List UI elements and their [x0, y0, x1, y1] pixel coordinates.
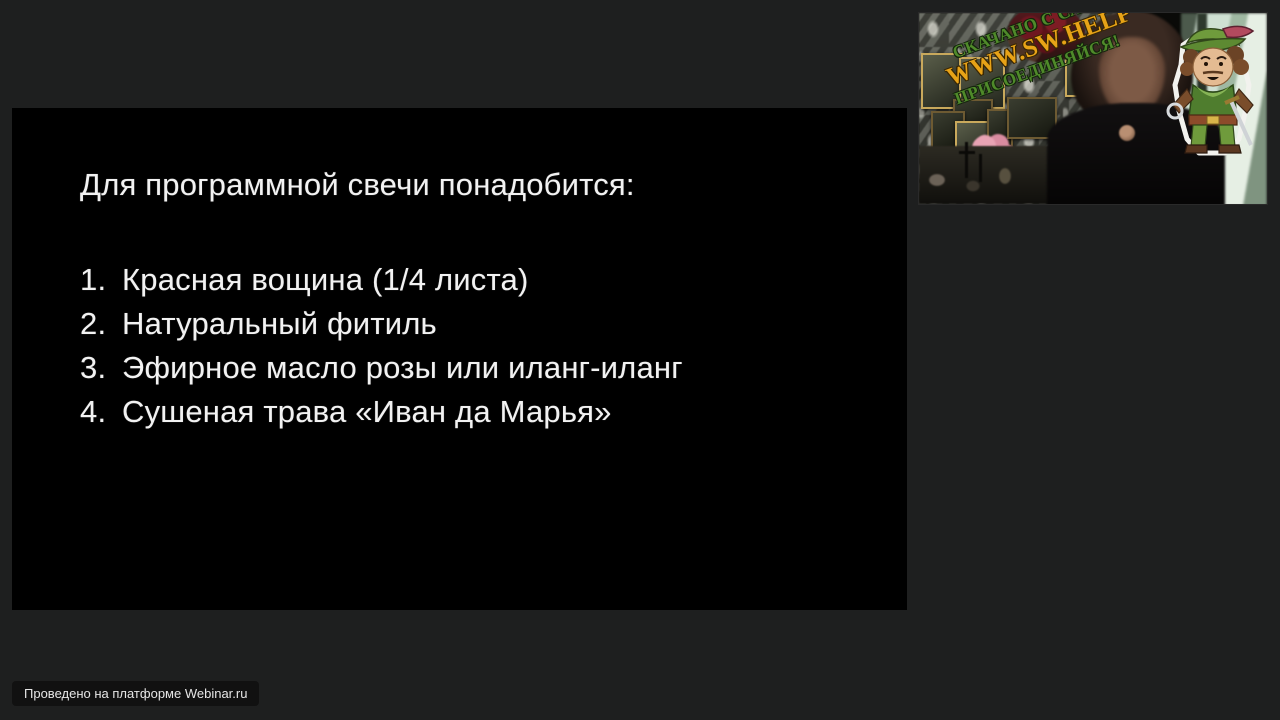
- list-item: 2.Натуральный фитиль: [80, 302, 887, 346]
- candlestick: [965, 142, 968, 178]
- list-item-text: Натуральный фитиль: [122, 306, 437, 341]
- cartoon-bard-sticker: [1165, 21, 1261, 161]
- presenter-video-panel[interactable]: СКАЧАНО С САЙТА WWW.SW.HELP ПРИСОЕДИНЯЙС…: [918, 12, 1268, 205]
- platform-caption-badge: Проведено на платформе Webinar.ru: [12, 681, 259, 706]
- platform-caption-text: Проведено на платформе Webinar.ru: [24, 687, 247, 700]
- slide-content: Для программной свечи понадобится: 1.Кра…: [80, 166, 887, 434]
- list-item-number: 4.: [80, 390, 122, 434]
- list-item-number: 1.: [80, 258, 122, 302]
- list-item-number: 2.: [80, 302, 122, 346]
- list-item: 4.Сушеная трава «Иван да Марья»: [80, 390, 887, 434]
- cartoon-bard-svg: [1165, 21, 1261, 161]
- list-item-number: 3.: [80, 346, 122, 390]
- list-item-text: Эфирное масло розы или иланг-иланг: [122, 350, 683, 385]
- list-item-text: Сушеная трава «Иван да Марья»: [122, 394, 612, 429]
- presentation-slide[interactable]: Для программной свечи понадобится: 1.Кра…: [12, 108, 907, 610]
- candlestick: [979, 154, 982, 182]
- list-item: 1.Красная вощина (1/4 листа): [80, 258, 887, 302]
- presenter-necklace: [1119, 125, 1135, 141]
- candlestick-arm: [959, 151, 975, 154]
- slide-heading: Для программной свечи понадобится:: [80, 166, 887, 204]
- slide-ingredient-list: 1.Красная вощина (1/4 листа) 2.Натуральн…: [80, 258, 887, 434]
- list-item: 3.Эфирное масло розы или иланг-иланг: [80, 346, 887, 390]
- list-item-text: Красная вощина (1/4 листа): [122, 262, 529, 297]
